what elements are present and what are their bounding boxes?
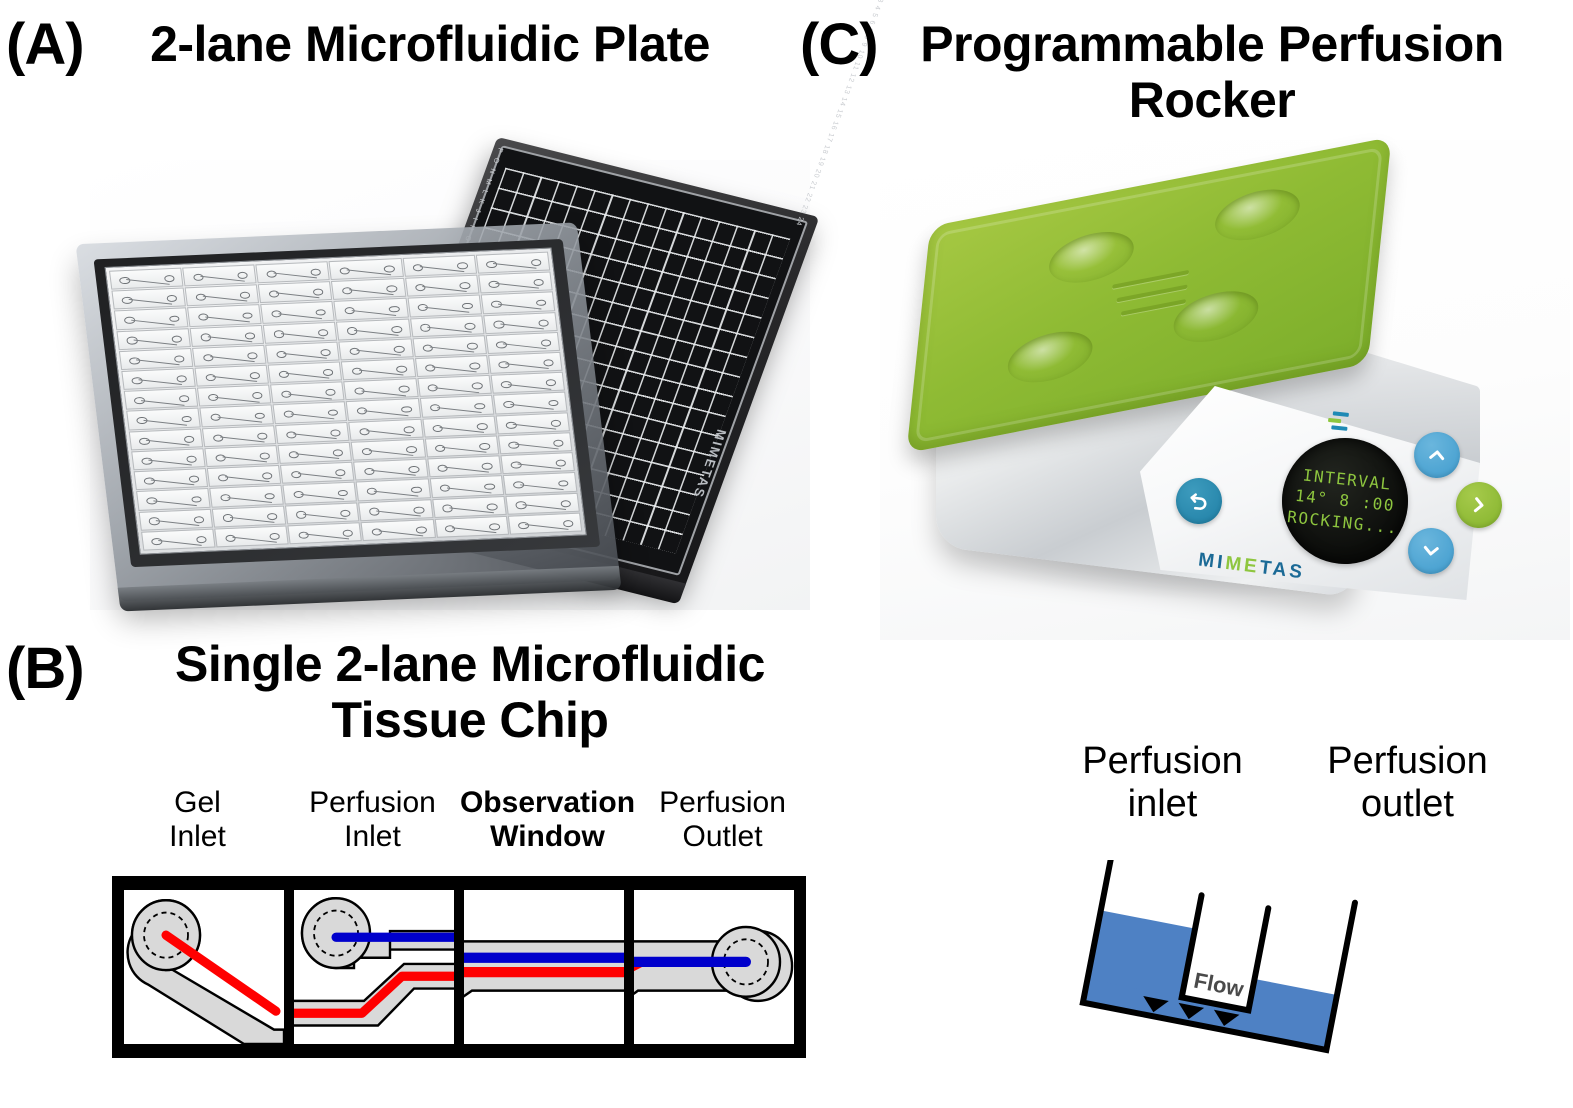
chip-well-dot [310, 269, 321, 276]
chip-compartment-labels: Gel Inlet Perfusion Inlet Observation Wi… [110, 786, 810, 853]
label-perfusion-outlet-schematic: Perfusion outlet [1285, 740, 1530, 825]
chip-well-unit [505, 492, 580, 514]
chip-well-dot [386, 286, 397, 293]
chip-well-unit [359, 499, 434, 521]
chip-array [109, 252, 582, 551]
chip-well-dot [487, 503, 498, 510]
chip-well-dot [320, 349, 331, 356]
label-perfusion-outlet-line1: Perfusion [635, 786, 810, 820]
chip-well-dot [545, 379, 556, 386]
chip-well-dot [191, 496, 202, 503]
perfusion-schematic-labels: Perfusion inlet Perfusion outlet [1040, 740, 1530, 825]
chip-well-dot [462, 302, 473, 309]
chip-well-dot [183, 436, 194, 443]
chip-well-unit [417, 375, 492, 397]
chip-well-dot [237, 272, 248, 279]
chip-well-dot [548, 400, 559, 407]
chip-well-dot [538, 319, 549, 326]
chip-well-unit [192, 345, 267, 367]
chip-well-dot [242, 312, 253, 319]
chip-well-dot [477, 423, 488, 430]
chip-well-dot [416, 526, 427, 533]
chip-well-unit [498, 432, 573, 454]
chip-well-unit [427, 455, 502, 477]
chip-well-dot [391, 326, 402, 333]
chip-well-unit [503, 472, 578, 494]
chip-well-unit [261, 301, 336, 323]
flow-label: Flow [1192, 968, 1247, 1002]
chip-well-dot [342, 530, 353, 537]
chip-well-unit [329, 258, 404, 280]
chip-well-unit [420, 395, 495, 417]
chip-well-unit [111, 288, 186, 310]
label-gel-inlet-line1: Gel [110, 786, 285, 820]
chip-well-unit [493, 392, 568, 414]
chip-well-unit [412, 335, 487, 357]
chip-well-dot [411, 486, 422, 493]
chip-well-unit [485, 332, 560, 354]
chip-well-unit [275, 422, 350, 444]
chip-well-dot [333, 449, 344, 456]
chip-well-dot [174, 355, 185, 362]
chip-well-dot [262, 473, 273, 480]
chip-well-unit [134, 468, 209, 490]
chip-well-unit [268, 362, 343, 384]
chip-well-unit [278, 442, 353, 464]
chip-well-dot [401, 406, 412, 413]
chip-well-dot [313, 289, 324, 296]
chip-well-unit [121, 368, 196, 390]
chip-well-dot [330, 429, 341, 436]
chip-well-unit [212, 505, 287, 527]
label-observation-window-line2: Window [460, 820, 635, 854]
chip-well-dot [557, 480, 568, 487]
chevron-down-icon [1418, 538, 1444, 564]
label-perfusion-outlet: Perfusion Outlet [635, 786, 810, 853]
chip-well-unit [139, 508, 214, 530]
chip-well-unit [187, 305, 262, 327]
chip-well-unit [334, 298, 409, 320]
chip-well-unit [490, 372, 565, 394]
chip-cell-perfusion-outlet [634, 890, 794, 1044]
chip-well-dot [550, 420, 561, 427]
chip-well-dot [171, 335, 182, 342]
label-perfusion-inlet-schematic: Perfusion inlet [1040, 740, 1285, 825]
chip-well-unit [483, 312, 558, 334]
chip-well-unit [422, 415, 497, 437]
chip-well-unit [202, 425, 277, 447]
chip-well-dot [540, 339, 551, 346]
chip-well-dot [166, 295, 177, 302]
chip-well-dot [553, 440, 564, 447]
chip-well-unit [204, 445, 279, 467]
perfusion-inlet-line1: Perfusion [1040, 740, 1285, 783]
chip-well-unit [415, 355, 490, 377]
chip-well-unit [508, 512, 583, 534]
label-gel-inlet-line2: Inlet [110, 820, 285, 854]
panel-b-title: Single 2-lane Microfluidic Tissue Chip [110, 636, 830, 748]
chip-well-dot [469, 363, 480, 370]
chip-well-dot [267, 513, 278, 520]
chip-well-unit [270, 382, 345, 404]
chip-well-unit [263, 321, 338, 343]
chip-well-unit [285, 502, 360, 524]
chip-well-unit [190, 325, 265, 347]
panel-a-title: 2-lane Microfluidic Plate [150, 16, 710, 72]
chip-well-dot [562, 520, 573, 527]
chip-well-dot [325, 389, 336, 396]
perfusion-outlet-line1: Perfusion [1285, 740, 1530, 783]
chip-well-dot [186, 456, 197, 463]
perfusion-rocker-photo: INTERVAL 14° 8 :00 ROCKING... MIMETAS [880, 140, 1570, 640]
chip-well-unit [344, 378, 419, 400]
chip-well-unit [116, 328, 191, 350]
chip-well-dot [394, 346, 405, 353]
chip-well-unit [114, 308, 189, 330]
chip-cell-perfusion-inlet [294, 890, 454, 1044]
label-observation-window: Observation Window [460, 786, 635, 853]
chip-well-dot [396, 366, 407, 373]
chip-well-dot [560, 500, 571, 507]
chip-well-unit [351, 439, 426, 461]
label-perfusion-inlet-line1: Perfusion [285, 786, 460, 820]
chip-well-dot [244, 332, 255, 339]
chip-well-dot [328, 409, 339, 416]
chip-well-dot [164, 275, 175, 282]
chip-well-dot [389, 306, 400, 313]
chip-well-dot [315, 309, 326, 316]
chip-well-unit [407, 295, 482, 317]
chip-well-unit [361, 519, 436, 541]
chip-well-dot [193, 516, 204, 523]
chevron-up-icon [1424, 442, 1450, 468]
chip-well-unit [136, 488, 211, 510]
chip-well-dot [555, 460, 566, 467]
chip-well-unit [500, 452, 575, 474]
label-perfusion-inlet: Perfusion Inlet [285, 786, 460, 853]
chip-well-dot [340, 509, 351, 516]
label-perfusion-outlet-line2: Outlet [635, 820, 810, 854]
panel-a-letter: (A) [6, 16, 84, 74]
chip-well-unit [405, 275, 480, 297]
chip-well-unit [331, 278, 406, 300]
chip-well-unit [339, 338, 414, 360]
chip-well-unit [354, 459, 429, 481]
chip-well-dot [169, 315, 180, 322]
chip-plate-glass [105, 247, 587, 554]
chip-well-dot [484, 483, 495, 490]
chip-well-unit [478, 272, 553, 294]
tissue-chip-diagram [112, 876, 806, 1058]
chevron-right-icon [1466, 492, 1492, 518]
chip-well-unit [288, 522, 363, 544]
chip-well-dot [479, 443, 490, 450]
chip-well-dot [482, 463, 493, 470]
chip-well-unit [209, 485, 284, 507]
chip-well-dot [335, 469, 346, 476]
chip-well-dot [403, 426, 414, 433]
chip-well-dot [264, 493, 275, 500]
chip-well-unit [476, 252, 551, 274]
chip-well-unit [424, 435, 499, 457]
chip-well-unit [273, 402, 348, 424]
gravity-flow-schematic: Flow [1040, 860, 1440, 1070]
chip-well-unit [429, 475, 504, 497]
microfluidic-plate-photo: P O N M L K J I H G F E D C B A 1 2 3 4 … [90, 160, 810, 610]
chip-well-unit [341, 358, 416, 380]
chip-well-unit [109, 268, 184, 290]
mimetas-logo-mark [1327, 411, 1351, 433]
chip-well-dot [259, 452, 270, 459]
chip-well-dot [240, 292, 251, 299]
chip-well-unit [195, 365, 270, 387]
chip-cell-observation-window [464, 890, 624, 1044]
chip-well-dot [398, 386, 409, 393]
chip-well-dot [464, 322, 475, 329]
chip-well-unit [141, 528, 216, 550]
chip-well-unit [280, 462, 355, 484]
chip-well-unit [207, 465, 282, 487]
chip-well-unit [356, 479, 431, 501]
chip-well-unit [197, 385, 272, 407]
label-gel-inlet: Gel Inlet [110, 786, 285, 853]
chip-well-unit [346, 398, 421, 420]
chip-well-unit [200, 405, 275, 427]
chip-well-unit [185, 284, 260, 306]
chip-well-dot [472, 383, 483, 390]
chip-well-dot [530, 259, 541, 266]
chip-well-dot [247, 352, 258, 359]
chip-well-unit [336, 318, 411, 340]
chip-well-dot [179, 395, 190, 402]
chip-well-unit [126, 408, 201, 430]
chip-well-unit [434, 516, 509, 538]
undo-arrow-icon [1186, 488, 1212, 514]
chip-well-dot [176, 375, 187, 382]
chip-well-unit [182, 264, 257, 286]
chip-well-unit [131, 448, 206, 470]
chip-well-unit [432, 496, 507, 518]
chip-well-unit [402, 255, 477, 277]
chip-well-dot [413, 506, 424, 513]
chip-well-unit [495, 412, 570, 434]
chip-well-dot [406, 446, 417, 453]
chip-well-dot [181, 416, 192, 423]
chip-well-dot [254, 412, 265, 419]
chip-well-dot [269, 533, 280, 540]
chip-well-dot [257, 432, 268, 439]
chip-plate-frame [76, 222, 621, 601]
chip-well-dot [318, 329, 329, 336]
chip-well-dot [323, 369, 334, 376]
chip-well-unit [283, 482, 358, 504]
label-perfusion-inlet-line2: Inlet [285, 820, 460, 854]
chip-well-unit [124, 388, 199, 410]
perfusion-inlet-line2: inlet [1040, 783, 1285, 826]
chip-well-dot [535, 299, 546, 306]
chip-well-dot [489, 523, 500, 530]
chip-well-unit [129, 428, 204, 450]
chip-cell-gel-inlet [124, 890, 284, 1044]
chip-well-unit [410, 315, 485, 337]
chip-well-unit [256, 261, 331, 283]
chip-well-dot [188, 476, 199, 483]
microfluidic-chip-plate [76, 222, 621, 601]
chip-well-dot [384, 265, 395, 272]
panel-c-title: Programmable Perfusion Rocker [856, 16, 1568, 128]
chip-well-dot [533, 279, 544, 286]
chip-well-dot [337, 489, 348, 496]
chip-well-unit [214, 525, 289, 547]
chip-well-dot [252, 392, 263, 399]
chip-well-unit [265, 341, 340, 363]
chip-well-unit [481, 292, 556, 314]
chip-well-dot [543, 359, 554, 366]
chip-well-unit [488, 352, 563, 374]
chip-well-unit [349, 418, 424, 440]
chip-well-dot [467, 343, 478, 350]
chip-well-dot [408, 466, 419, 473]
chip-well-unit [258, 281, 333, 303]
chip-well-dot [457, 262, 468, 269]
chip-well-dot [196, 536, 207, 543]
chip-well-dot [474, 403, 485, 410]
chip-well-unit [119, 348, 194, 370]
chip-well-dot [249, 372, 260, 379]
panel-b-letter: (B) [6, 640, 84, 698]
chip-well-dot [459, 282, 470, 289]
label-observation-window-line1: Observation [460, 786, 635, 820]
perfusion-outlet-line2: outlet [1285, 783, 1530, 826]
